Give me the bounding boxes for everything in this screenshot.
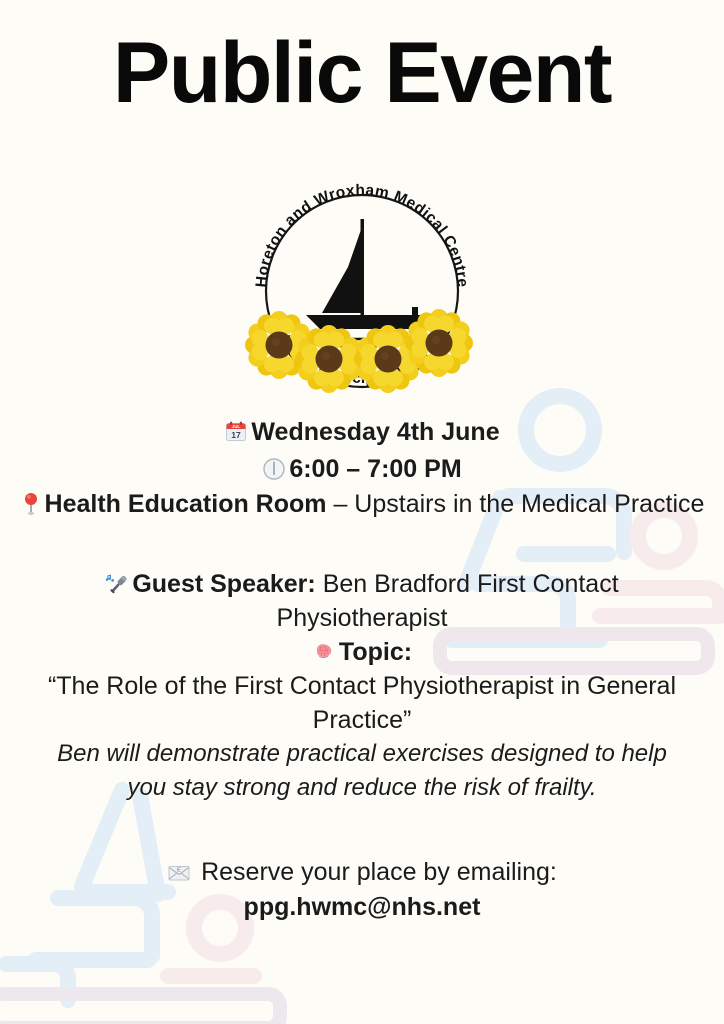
location-suffix: – Upstairs in the Medical Practice — [327, 490, 705, 518]
rsvp-line: E Reserve your place by emailing: — [0, 855, 724, 889]
guest-speaker-label: Guest Speaker: — [132, 570, 315, 598]
svg-text:E: E — [177, 868, 181, 874]
event-poster: Public Event — [0, 0, 724, 1024]
ppg-logo: Horeton and Wroxham Medical Centre Patie… — [236, 163, 488, 398]
topic-description: Ben will demonstrate practical exercises… — [0, 737, 724, 805]
envelope-emoji: E — [167, 862, 191, 884]
microphone-emoji — [105, 572, 129, 596]
calendar-emoji: JUL 17 — [224, 420, 248, 444]
svg-text:17: 17 — [232, 430, 242, 440]
event-date-text: Wednesday 4th June — [251, 418, 499, 446]
page-title: Public Event — [0, 28, 724, 118]
topic-description-text: Ben will demonstrate practical exercises… — [42, 737, 682, 805]
location-room-name: Health Education Room — [45, 490, 327, 518]
brain-emoji — [312, 640, 336, 664]
map-pin-emoji — [20, 492, 42, 516]
clock-emoji — [262, 457, 286, 481]
svg-text:JUL: JUL — [232, 424, 240, 429]
guest-speaker-line: Guest Speaker: Ben Bradford First Contac… — [0, 567, 724, 635]
event-time-line: 6:00 – 7:00 PM — [0, 451, 724, 488]
rsvp-prompt: Reserve your place by emailing: — [194, 858, 557, 886]
topic-title: “The Role of the First Contact Physiothe… — [0, 669, 724, 737]
event-location-line: Health Education Room – Upstairs in the … — [0, 486, 724, 522]
topic-label: Topic: — [339, 638, 412, 666]
event-time-text: 6:00 – 7:00 PM — [289, 455, 461, 483]
topic-label-line: Topic: — [0, 635, 724, 669]
event-date-line: JUL 17 Wednesday 4th June — [0, 414, 724, 451]
rsvp-email[interactable]: ppg.hwmc@nhs.net — [0, 890, 724, 924]
topic-title-text: “The Role of the First Contact Physiothe… — [42, 669, 682, 737]
guest-speaker-name: Ben Bradford First Contact Physiotherapi… — [277, 570, 619, 632]
